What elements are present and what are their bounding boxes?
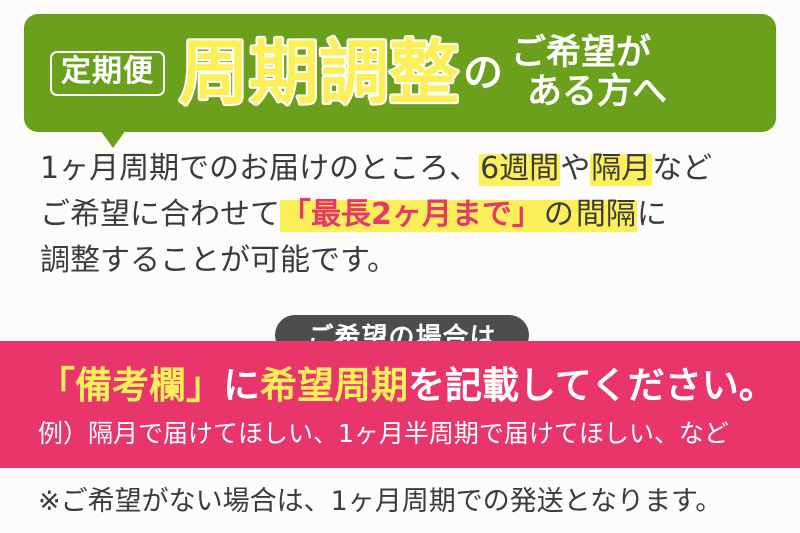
description-line-1: 1ヶ月周期でのお届けのところ、6週間や隔月など: [40, 146, 770, 192]
description-line1-part1: 1ヶ月周期でのお届けのところ、: [40, 151, 479, 186]
description-line1-part5: など: [652, 151, 712, 186]
description-line-3: 調整することが可能です。: [40, 238, 770, 284]
cta-example-text: 例）隔月で届けてほしい、1ヶ月半周期で届けてほしい、など: [38, 421, 729, 446]
description-line-2: ご希望に合わせて「最長2ヶ月まで」の間隔に: [40, 192, 770, 238]
description-highlight-6weeks: 6週間: [479, 151, 560, 186]
description-line2-part3: の: [543, 197, 575, 232]
banner-subheadline-line1: ご希望が: [511, 33, 651, 73]
description-emphasis-max2months: 「最長2ヶ月まで」: [280, 197, 543, 232]
banner-subheadline-line2: ある方へ: [511, 73, 667, 112]
banner-headline: 周期調整: [179, 38, 459, 108]
description-highlight-interval: 間隔: [575, 197, 637, 232]
description-line2-part5: に: [637, 197, 667, 232]
description-paragraph: 1ヶ月周期でのお届けのところ、6週間や隔月など ご希望に合わせて「最長2ヶ月まで…: [40, 146, 770, 284]
subscription-badge: 定期便: [50, 51, 165, 96]
cta-headline-remarks: 「備考欄」: [38, 364, 223, 407]
cta-headline-part2: に: [223, 364, 260, 407]
promotional-banner-page: 定期便 周期調整 の ご希望が ある方へ 1ヶ月周期でのお届けのところ、6週間や…: [0, 0, 800, 533]
description-line1-part3: や: [560, 151, 590, 186]
cta-headline-part4: を記載してください。: [408, 364, 776, 407]
description-highlight-bimonthly: 隔月: [590, 151, 652, 186]
description-line2-part1: ご希望に合わせて: [40, 197, 280, 232]
cta-pink-block: 「備考欄」に希望周期を記載してください。 例）隔月で届けてほしい、1ヶ月半周期で…: [0, 341, 800, 468]
cta-headline: 「備考欄」に希望周期を記載してください。: [38, 367, 776, 404]
footer-note: ※ご希望がない場合は、1ヶ月周期での発送となります。: [38, 479, 722, 518]
cta-headline-cycle: 希望周期: [260, 364, 408, 407]
banner-particle: の: [463, 53, 503, 93]
banner-subheadline: ご希望が ある方へ: [511, 34, 667, 112]
header-banner: 定期便 周期調整 の ご希望が ある方へ: [24, 14, 776, 132]
